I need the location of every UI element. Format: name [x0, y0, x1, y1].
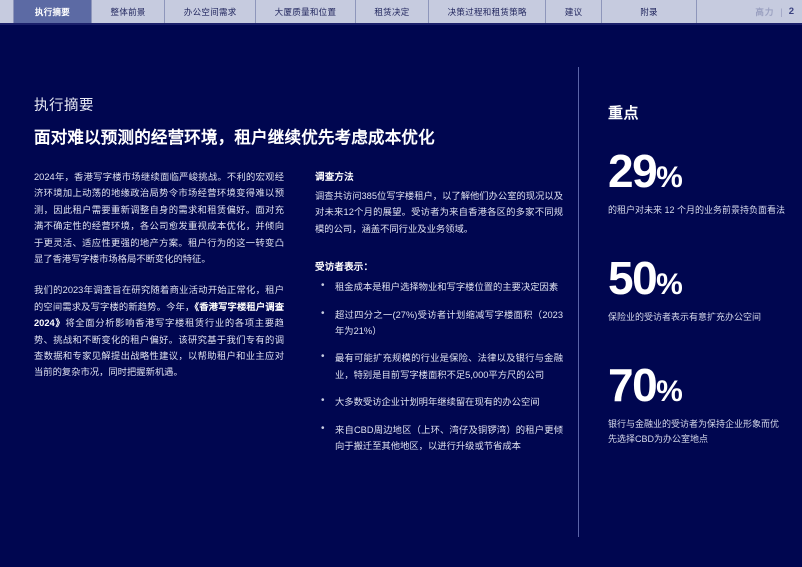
nav-tab-executive-summary[interactable]: 执行摘要 — [14, 0, 92, 23]
nav-tab-label: 执行摘要 — [35, 6, 70, 18]
percent-sign: % — [656, 161, 682, 194]
nav-tab-label: 整体前景 — [111, 6, 146, 18]
slide-page: 执行摘要 整体前景 办公空间需求 大厦质量和位置 租赁决定 决策过程和租赁策略 … — [0, 0, 802, 567]
percent-sign: % — [656, 268, 682, 301]
nav-brand-area: 高力 | 2 — [697, 0, 802, 23]
section-eyebrow: 执行摘要 — [34, 94, 554, 115]
stat-value: 29% — [608, 150, 786, 194]
nav-tab-leasing-decision[interactable]: 租赁决定 — [356, 0, 429, 23]
stat-block-negative-outlook: 29% 的租户对未来 12 个月的业务前景持负面看法 — [608, 150, 786, 217]
respondents-bullet-list: 租金成本是租户选择物业和写字楼位置的主要决定因素 超过四分之一(27%)受访者计… — [315, 279, 563, 454]
paragraph-intro: 2024年，香港写字楼市场继续面临严峻挑战。不利的宏观经济环境加上动荡的地缘政治… — [34, 169, 284, 267]
list-item: 超过四分之一(27%)受访者计划缩减写字楼面积（2023年为21%） — [315, 307, 563, 340]
page-title-block: 执行摘要 面对难以预测的经营环境，租户继续优先考虑成本优化 — [34, 94, 554, 148]
stat-number: 29 — [608, 145, 656, 197]
nav-tab-appendix[interactable]: 附录 — [602, 0, 697, 23]
stat-block-banking-cbd-preference: 70% 银行与金融业的受访者为保持企业形象而优先选择CBD为办公室地点 — [608, 364, 786, 446]
list-item: 大多数受访企业计划明年继续留在现有的办公空间 — [315, 394, 563, 410]
list-item: 最有可能扩充规模的行业是保险、法律以及银行与金融业，特别是目前写字楼面积不足5,… — [315, 350, 563, 383]
nav-tab-label: 建议 — [565, 6, 583, 18]
nav-tab-recommendations[interactable]: 建议 — [546, 0, 602, 23]
nav-tab-label: 大厦质量和位置 — [275, 6, 337, 18]
stat-block-insurance-expansion: 50% 保险业的受访者表示有意扩充办公空间 — [608, 257, 786, 324]
page-number: 2 — [789, 6, 794, 17]
stat-label: 的租户对未来 12 个月的业务前景持负面看法 — [608, 203, 786, 218]
stat-number: 50 — [608, 252, 656, 304]
nav-tab-label: 附录 — [640, 6, 658, 18]
nav-tab-office-space-demand[interactable]: 办公空间需求 — [165, 0, 256, 23]
stat-label: 银行与金融业的受访者为保持企业形象而优先选择CBD为办公室地点 — [608, 417, 786, 446]
page-separator: | — [780, 7, 782, 17]
paragraph-part-post: 将全面分析影响香港写字楼租赁行业的各项主要趋势、挑战和不断变化的租户偏好。该研究… — [34, 318, 284, 377]
colliers-logo: 高力 — [755, 6, 774, 18]
page-title: 面对难以预测的经营环境，租户继续优先考虑成本优化 — [34, 124, 554, 148]
methodology-text: 调查共访问385位写字楼租户，以了解他们办公室的现况以及对未来12个月的展望。受… — [315, 188, 563, 237]
nav-tab-label: 租赁决定 — [374, 6, 409, 18]
list-item: 租金成本是租户选择物业和写字楼位置的主要决定因素 — [315, 279, 563, 295]
top-navigation-bar: 执行摘要 整体前景 办公空间需求 大厦质量和位置 租赁决定 决策过程和租赁策略 … — [0, 0, 802, 25]
methodology-heading: 调查方法 — [315, 169, 563, 183]
nav-tab-label: 决策过程和租赁策略 — [448, 6, 527, 18]
nav-left-edge — [0, 0, 14, 23]
highlights-title: 重点 — [608, 102, 786, 123]
percent-sign: % — [656, 375, 682, 408]
nav-tab-overall-outlook[interactable]: 整体前景 — [92, 0, 165, 23]
stat-value: 70% — [608, 364, 786, 408]
stat-label: 保险业的受访者表示有意扩充办公空间 — [608, 310, 786, 325]
slide-content: 执行摘要 面对难以预测的经营环境，租户继续优先考虑成本优化 2024年，香港写字… — [0, 27, 802, 567]
vertical-divider — [578, 67, 579, 537]
stat-value: 50% — [608, 257, 786, 301]
stat-number: 70 — [608, 359, 656, 411]
list-item: 来自CBD周边地区（上环、湾仔及铜锣湾）的租户更倾向于搬迁至其他地区，以进行升级… — [315, 422, 563, 455]
nav-tab-label: 办公空间需求 — [184, 6, 237, 18]
respondents-heading: 受访者表示： — [315, 259, 563, 273]
methodology-column: 调查方法 调查共访问385位写字楼租户，以了解他们办公室的现况以及对未来12个月… — [315, 169, 563, 465]
nav-tab-decision-process-strategy[interactable]: 决策过程和租赁策略 — [429, 0, 546, 23]
highlights-column: 重点 29% 的租户对未来 12 个月的业务前景持负面看法 50% 保险业的受访… — [608, 102, 786, 486]
narrative-column: 2024年，香港写字楼市场继续面临严峻挑战。不利的宏观经济环境加上动荡的地缘政治… — [34, 169, 284, 396]
paragraph-survey-scope: 我们的2023年调查旨在研究随着商业活动开始正常化，租户的空间需求及写字楼的新趋… — [34, 282, 284, 380]
nav-tab-building-quality-location[interactable]: 大厦质量和位置 — [256, 0, 356, 23]
